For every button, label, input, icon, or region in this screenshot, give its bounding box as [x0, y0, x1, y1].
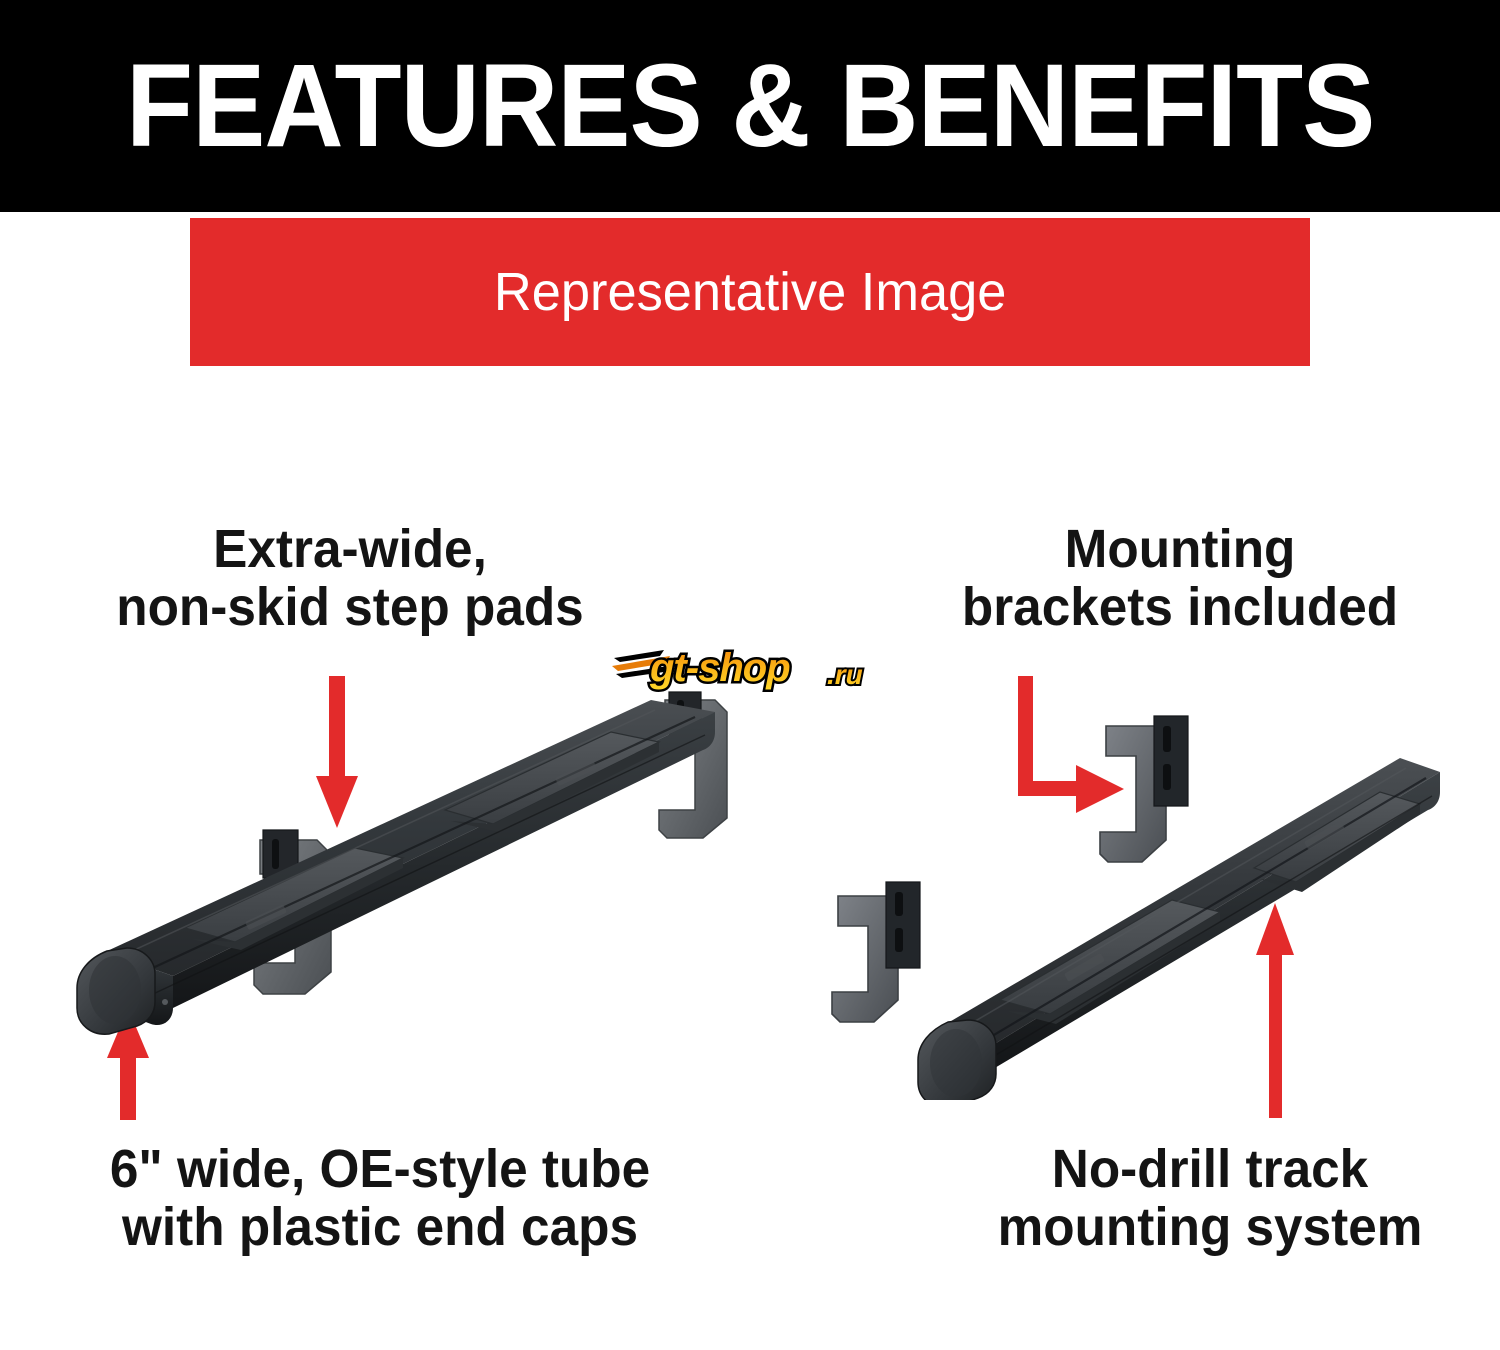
- watermark-wordmark: gt-shop .ru: [649, 646, 863, 690]
- svg-text:.ru: .ru: [827, 659, 863, 690]
- product-image-running-board-with-brackets: [820, 700, 1450, 1100]
- mounting-bracket-lower: [832, 882, 920, 1022]
- callout-mounting-brackets: Mounting brackets included: [895, 520, 1465, 637]
- svg-text:gt-shop: gt-shop: [649, 646, 790, 690]
- plastic-end-cap: [918, 1020, 996, 1100]
- page-title: FEATURES & BENEFITS: [126, 47, 1374, 165]
- mounting-bracket-upper: [1100, 716, 1188, 862]
- feature-benefits-page: FEATURES & BENEFITS Representative Image…: [0, 0, 1500, 1350]
- callout-no-drill-track: No-drill track mounting system: [944, 1140, 1476, 1257]
- header-bar: FEATURES & BENEFITS: [0, 0, 1500, 212]
- arrow-shaft: [120, 1053, 136, 1120]
- callout-oe-style-tube: 6" wide, OE-style tube with plastic end …: [48, 1140, 713, 1257]
- banner-label: Representative Image: [494, 261, 1006, 323]
- callout-extra-wide-step-pads: Extra-wide, non-skid step pads: [56, 520, 645, 637]
- product-image-running-board-assembled: [55, 690, 785, 1040]
- representative-image-banner: Representative Image: [190, 218, 1310, 366]
- watermark-gt-shop-logo: gt-shop .ru: [612, 636, 902, 696]
